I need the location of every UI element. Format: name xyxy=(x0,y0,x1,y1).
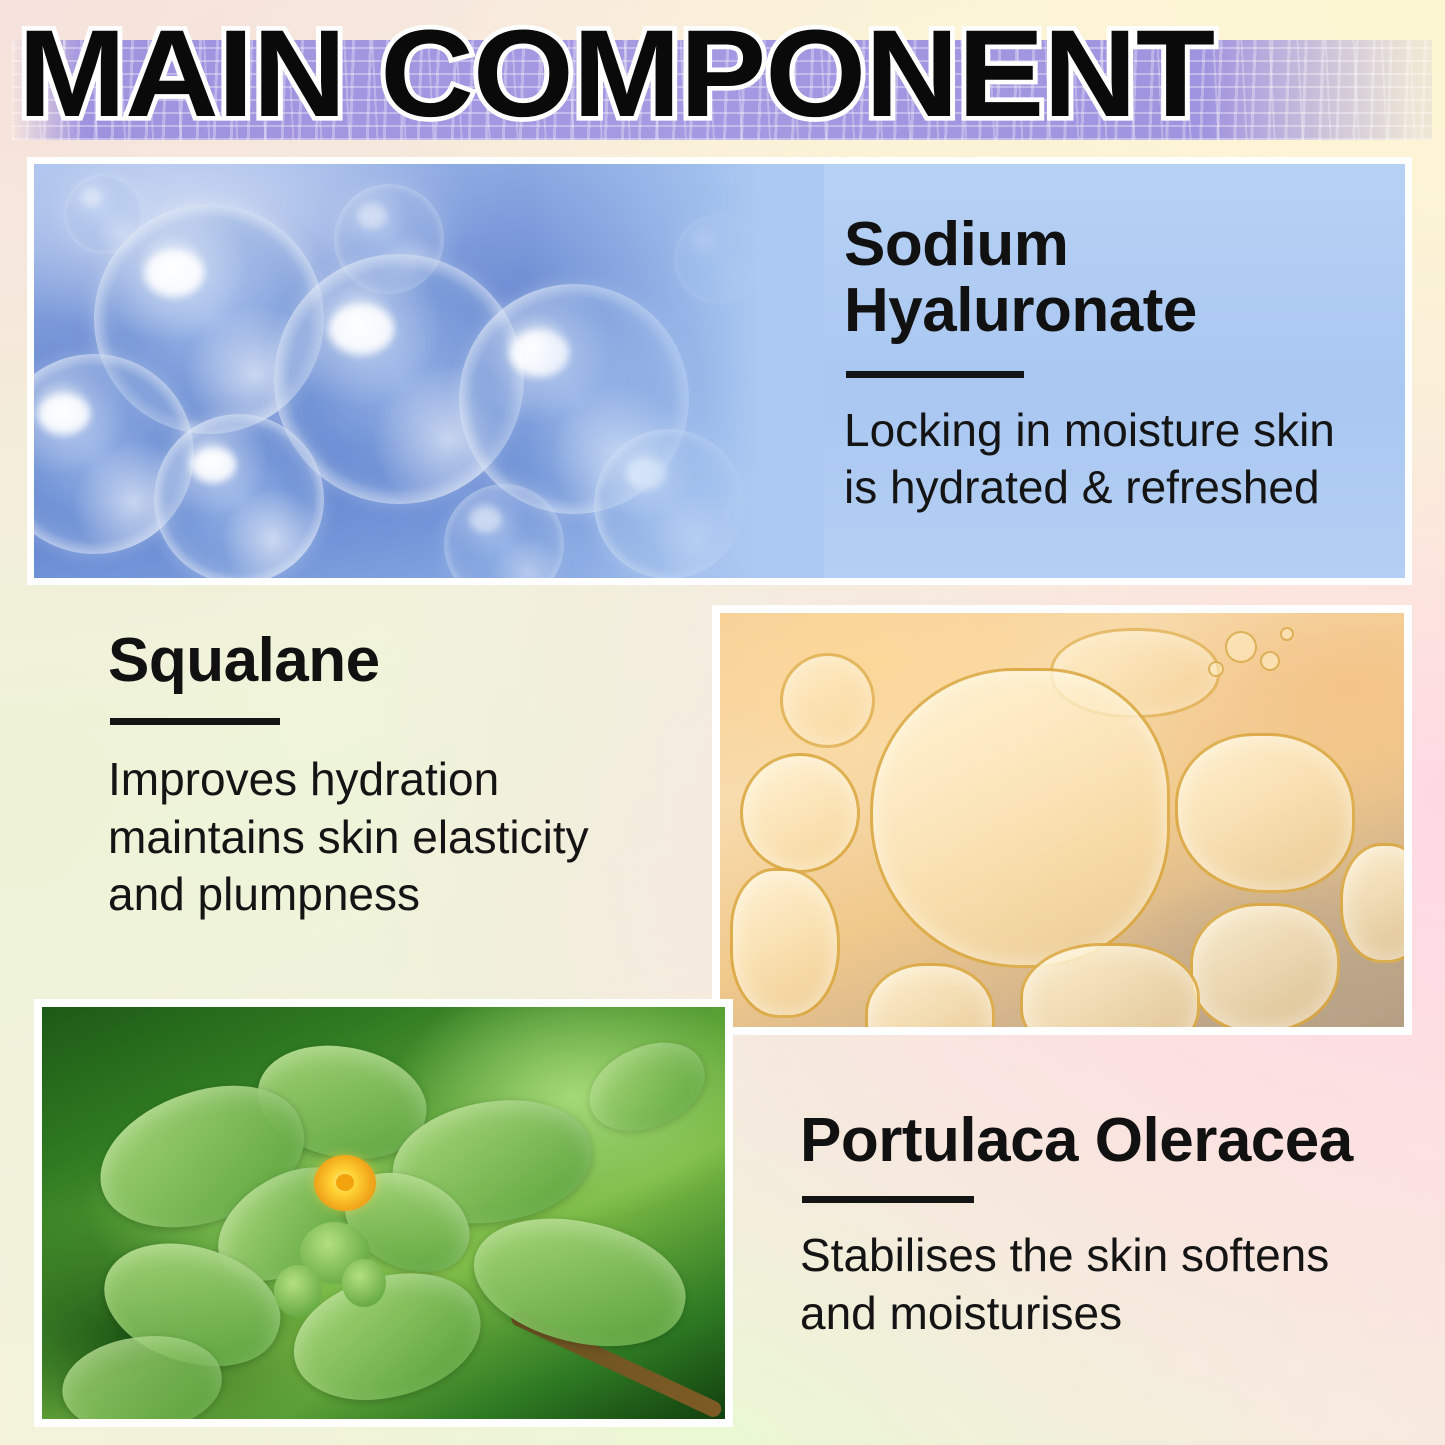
title-banner: MAIN COMPONENT xyxy=(0,0,1445,152)
oil-droplet-shape xyxy=(1225,631,1257,663)
ingredient-description: Stabilises the skin softens and moisturi… xyxy=(800,1227,1430,1342)
oil-cell-shape xyxy=(740,753,860,873)
ingredient-description-line-1: Stabilises the skin softens xyxy=(800,1227,1430,1285)
ingredient-description-line-2: is hydrated & refreshed xyxy=(844,459,1404,517)
oil-cell-shape xyxy=(1175,733,1355,893)
oil-droplet-shape xyxy=(1260,651,1280,671)
ingredient-text-squalane: Squalane Improves hydration maintains sk… xyxy=(108,628,678,924)
title-underline-rule xyxy=(802,1196,974,1203)
oil-cell-shape xyxy=(870,668,1170,968)
oil-cell-shape xyxy=(730,868,840,1018)
photo-fade-overlay xyxy=(526,164,824,578)
ingredient-description: Locking in moisture skin is hydrated & r… xyxy=(844,402,1404,517)
ingredient-card-sodium-hyaluronate: Sodium Hyaluronate Locking in moisture s… xyxy=(27,157,1412,585)
flower-bud-shape xyxy=(342,1259,386,1307)
ingredient-title-line-1: Portulaca Oleracea xyxy=(800,1108,1430,1174)
ingredient-description-line-3: and plumpness xyxy=(108,866,678,924)
oil-cell-shape xyxy=(1020,943,1200,1035)
flower-bud-shape xyxy=(274,1265,322,1317)
oil-cell-shape xyxy=(1340,843,1412,963)
oil-droplet-shape xyxy=(1208,661,1224,677)
oil-droplet-shape xyxy=(1280,627,1294,641)
ingredient-title: Sodium Hyaluronate xyxy=(844,212,1404,345)
ingredient-description-line-1: Locking in moisture skin xyxy=(844,402,1404,460)
title-underline-rule xyxy=(846,371,1024,378)
ingredient-title-line-1: Sodium xyxy=(844,212,1404,278)
ingredient-title-line-1: Squalane xyxy=(108,628,678,694)
ingredient-title: Portulaca Oleracea xyxy=(800,1108,1430,1174)
oil-cell-shape xyxy=(1190,903,1340,1033)
page-title: MAIN COMPONENT xyxy=(18,12,1445,136)
bubble-shape xyxy=(154,414,324,578)
ingredient-description-line-2: and moisturises xyxy=(800,1285,1430,1343)
title-underline-rule xyxy=(110,718,280,725)
ingredient-title-line-2: Hyaluronate xyxy=(844,278,1404,344)
oil-cell-shape xyxy=(780,653,875,748)
ingredient-text-sodium-hyaluronate: Sodium Hyaluronate Locking in moisture s… xyxy=(844,212,1404,517)
ingredient-description-line-1: Improves hydration xyxy=(108,751,678,809)
ingredient-title: Squalane xyxy=(108,628,678,694)
amber-oil-bubbles-photo xyxy=(712,605,1412,1035)
purslane-plant-photo xyxy=(34,999,733,1427)
ingredient-description-line-2: maintains skin elasticity xyxy=(108,809,678,867)
ingredient-text-portulaca-oleracea: Portulaca Oleracea Stabilises the skin s… xyxy=(800,1108,1430,1342)
ingredient-description: Improves hydration maintains skin elasti… xyxy=(108,751,678,924)
yellow-flower-shape xyxy=(314,1155,376,1211)
water-bubbles-photo xyxy=(34,164,824,578)
